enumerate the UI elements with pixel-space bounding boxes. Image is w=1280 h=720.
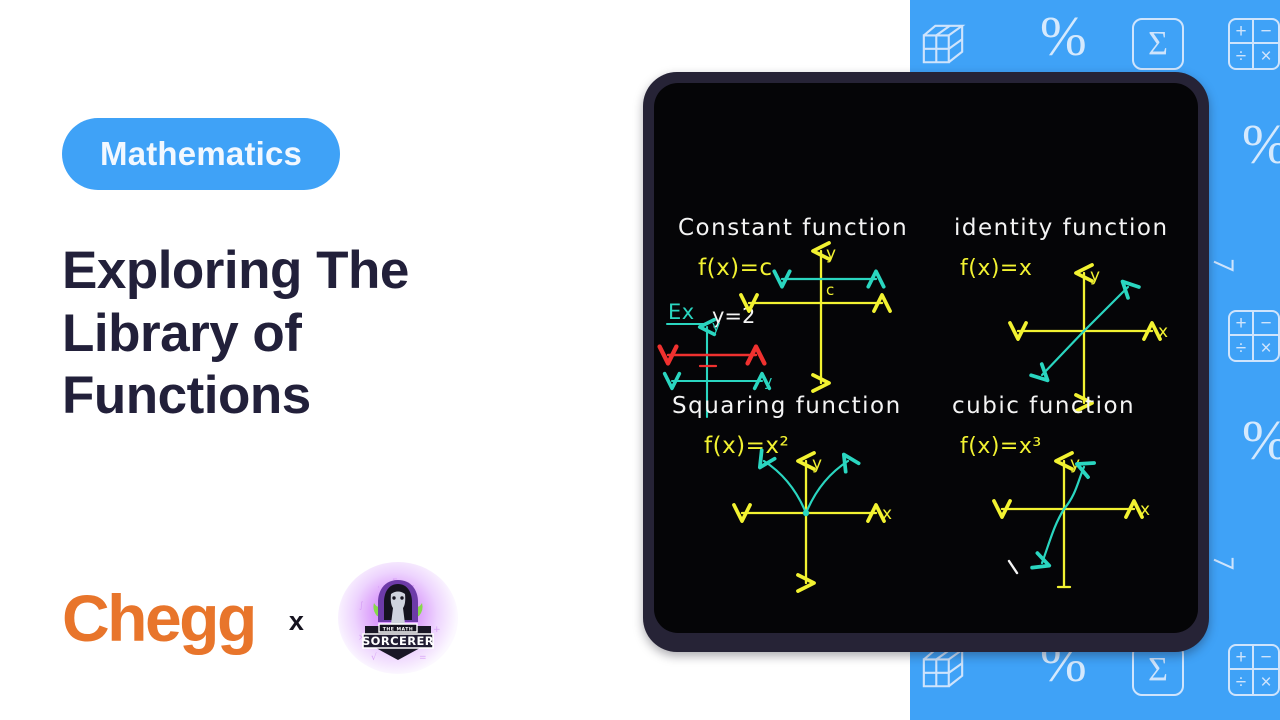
svg-text:f(x)=x²: f(x)=x² [704, 433, 789, 459]
sigma-box-icon: Σ [1132, 18, 1184, 70]
cube-icon [920, 22, 966, 68]
svg-text:x: x [1140, 500, 1150, 520]
svg-text:y: y [812, 454, 822, 474]
cube-icon [920, 646, 966, 692]
panel-identity-function: identity function f(x)=x y x [954, 215, 1169, 403]
svg-text:∫: ∫ [359, 601, 364, 611]
svg-text:y: y [826, 244, 836, 264]
svg-text:=: = [419, 653, 427, 663]
collaboration-x: x [289, 602, 304, 635]
category-badge: Mathematics [62, 118, 340, 190]
the-math-sorcerer-logo: Σ π ∫ × + √ = · [338, 562, 458, 674]
calc-key: − [1254, 312, 1278, 336]
calc-key: − [1254, 646, 1278, 670]
category-badge-label: Mathematics [100, 135, 302, 173]
calc-key: ÷ [1230, 670, 1254, 694]
percent-icon: % [1242, 122, 1280, 168]
logo-top-text: THE MATH [383, 627, 413, 633]
percent-icon: % [1242, 418, 1280, 464]
blackboard-frame: Constant function f(x)=c Ex y=2 y y [643, 72, 1209, 652]
svg-text:f(x)=c: f(x)=c [698, 255, 773, 281]
panel-cubic-function: cubic function f(x)=x³ y x [952, 393, 1150, 587]
svg-text:y: y [1070, 454, 1080, 474]
page-title: Exploring The Library of Functions [62, 240, 532, 428]
calc-key: × [1254, 336, 1278, 360]
angle-icon [1212, 556, 1242, 582]
svg-text:identity function: identity function [954, 215, 1169, 241]
calc-key: + [1230, 20, 1254, 44]
percent-icon: % [1040, 14, 1085, 60]
blackboard-surface: Constant function f(x)=c Ex y=2 y y [654, 83, 1198, 633]
panel-squaring-function: Squaring function f(x)=x² y x [672, 393, 902, 583]
footer-logo-strip: Chegg x Σ π ∫ × + √ = · [62, 562, 458, 674]
svg-text:y: y [712, 319, 720, 335]
angle-icon [1212, 258, 1242, 284]
svg-text:Squaring function: Squaring function [672, 393, 902, 419]
calc-key: ÷ [1230, 44, 1254, 68]
svg-text:x: x [1158, 322, 1168, 342]
svg-text:Constant function: Constant function [678, 215, 908, 241]
calc-key: × [1254, 670, 1278, 694]
panel-constant-function: Constant function f(x)=c Ex y=2 y y [667, 215, 908, 417]
svg-text:f(x)=x³: f(x)=x³ [960, 434, 1042, 459]
svg-text:√: √ [371, 652, 377, 663]
calc-key: − [1254, 20, 1278, 44]
calc-key: + [1230, 646, 1254, 670]
svg-text:y: y [764, 374, 772, 390]
svg-text:x: x [882, 504, 892, 524]
calculator-icon: + − ÷ × [1228, 644, 1280, 696]
svg-text:c: c [826, 281, 834, 299]
svg-text:+: + [433, 625, 441, 635]
svg-text:f(x)=x: f(x)=x [960, 256, 1032, 281]
svg-text:Ex: Ex [668, 300, 695, 324]
logo-main-text: SORCERER [362, 634, 434, 648]
chegg-logo: Chegg [62, 585, 255, 651]
svg-text:·: · [377, 583, 380, 593]
calculator-icon: + − ÷ × [1228, 18, 1280, 70]
calc-key: + [1230, 312, 1254, 336]
blackboard-drawing: Constant function f(x)=c Ex y=2 y y [654, 83, 1198, 633]
calculator-icon: + − ÷ × [1228, 310, 1280, 362]
calc-key: ÷ [1230, 336, 1254, 360]
svg-text:cubic function: cubic function [952, 393, 1135, 419]
svg-text:y: y [1090, 266, 1100, 286]
calc-key: × [1254, 44, 1278, 68]
